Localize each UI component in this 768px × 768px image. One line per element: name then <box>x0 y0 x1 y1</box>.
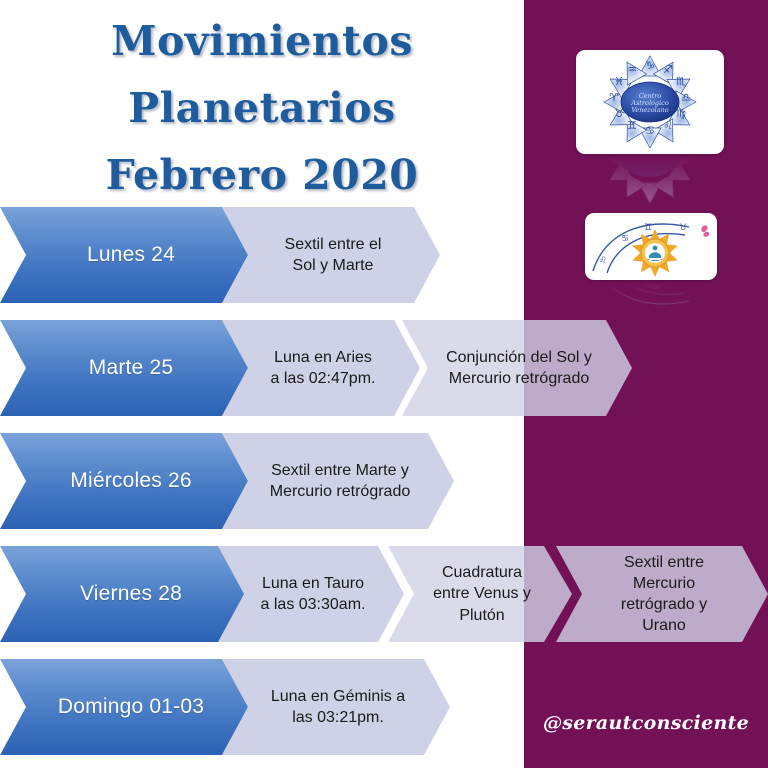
title-line-1: Movimientos <box>0 8 524 75</box>
event-chevron[interactable]: Sextil entreMercurioretrógrado yUrano <box>556 546 768 642</box>
event-chevron[interactable]: Luna en Ariesa las 02:47pm. <box>222 320 420 416</box>
logo-center-line-3: Venezolano <box>631 106 668 114</box>
svg-text:♓: ♓ <box>614 75 624 88</box>
svg-text:♊: ♊ <box>627 119 637 132</box>
day-chevron[interactable]: Marte 25 <box>0 320 248 416</box>
svg-text:♐: ♐ <box>663 63 673 76</box>
day-chevron[interactable]: Domingo 01-03 <box>0 659 248 755</box>
svg-text:♏: ♏ <box>676 75 686 88</box>
svg-text:♊: ♊ <box>644 223 652 233</box>
day-label: Marte 25 <box>63 356 185 381</box>
timeline-row: Viernes 28Luna en Tauroa las 03:30am.Cua… <box>0 546 768 642</box>
event-chevron[interactable]: Luna en Géminis alas 03:21pm. <box>222 659 450 755</box>
svg-text:♌: ♌ <box>663 119 673 132</box>
day-chevron[interactable]: Lunes 24 <box>0 207 248 303</box>
day-label: Lunes 24 <box>61 243 187 268</box>
event-label: Luna en Tauroa las 03:30am. <box>231 573 392 615</box>
svg-text:♒: ♒ <box>627 63 637 76</box>
event-label: Luna en Géminis alas 03:21pm. <box>241 686 431 728</box>
logo-card: ♑ ♐ ♏ ♎ ♍ ♌ ♋ ♊ ♉ ♈ ♓ ♒ <box>576 50 724 154</box>
day-chevron[interactable]: Viernes 28 <box>0 546 248 642</box>
zodiac-wheel-icon: ♑ ♐ ♏ ♎ ♍ ♌ ♋ ♊ ♉ ♈ ♓ ♒ <box>576 50 724 154</box>
infographic-canvas: Movimientos Planetarios Febrero 2020 <box>0 0 768 768</box>
event-label: Cuadraturaentre Venus yPlutón <box>403 562 557 625</box>
logo-centro-astrologico-venezolano: ♑ ♐ ♏ ♎ ♍ ♌ ♋ ♊ ♉ ♈ ♓ ♒ <box>576 50 724 209</box>
logo-reflection: ♋ ♊ ♌ ♉ ♍ <box>576 155 724 209</box>
svg-text:♌: ♌ <box>599 256 607 266</box>
svg-text:♋: ♋ <box>621 234 629 244</box>
day-label: Viernes 28 <box>54 582 194 607</box>
day-label: Domingo 01-03 <box>32 695 216 720</box>
event-chevron[interactable]: Conjunción del Sol yMercurio retrógrado <box>402 320 632 416</box>
svg-text:♋: ♋ <box>645 124 655 137</box>
day-label: Miércoles 26 <box>44 469 203 494</box>
title-line-2: Planetarios <box>0 75 524 142</box>
event-label: Sextil entreMercurioretrógrado yUrano <box>591 552 733 636</box>
logo-ser-aut-consciente: ♌ ♋ ♊ ♉ <box>585 213 717 315</box>
event-chevron[interactable]: Sextil entre Marte yMercurio retrógrado <box>222 433 454 529</box>
event-label: Conjunción del Sol yMercurio retrógrado <box>416 347 618 389</box>
sun-meditation-icon: ♌ ♋ ♊ ♉ <box>585 213 717 280</box>
svg-text:♎: ♎ <box>681 91 691 104</box>
day-chevron[interactable]: Miércoles 26 <box>0 433 248 529</box>
event-label: Sextil entre elSol y Marte <box>255 234 408 276</box>
event-chevron[interactable]: Luna en Tauroa las 03:30am. <box>218 546 404 642</box>
svg-text:♉: ♉ <box>679 223 687 233</box>
event-label: Sextil entre Marte yMercurio retrógrado <box>240 460 437 502</box>
logo-card: ♌ ♋ ♊ ♉ <box>585 213 717 280</box>
event-chevron[interactable]: Sextil entre elSol y Marte <box>222 207 440 303</box>
event-label: Luna en Ariesa las 02:47pm. <box>241 347 402 389</box>
social-handle: @serautconsciente <box>524 712 768 734</box>
page-title: Movimientos Planetarios Febrero 2020 <box>0 8 524 209</box>
svg-text:♈: ♈ <box>609 91 619 104</box>
event-chevron[interactable]: Cuadraturaentre Venus yPlutón <box>388 546 572 642</box>
title-line-3: Febrero 2020 <box>0 142 524 209</box>
logo-reflection <box>585 281 717 315</box>
svg-text:♑: ♑ <box>645 59 655 72</box>
